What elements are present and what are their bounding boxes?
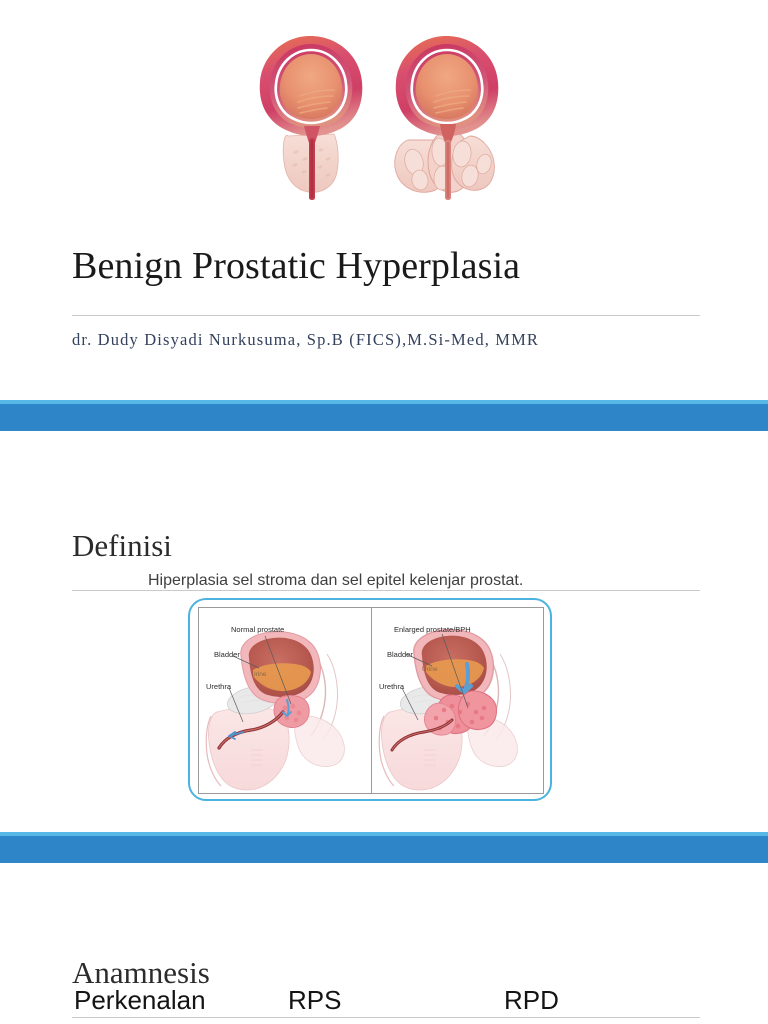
definisi-heading: Definisi [72, 527, 700, 565]
band-fill [0, 404, 768, 431]
anamnesis-slide: Anamnesis Perkenalan RPS RPD [0, 863, 768, 1024]
diagram-inner-frame: Normal prostate Bladder Urethra Urine [198, 607, 544, 794]
diagram-label-bladder-left: Bladder [214, 650, 240, 659]
band-fill [0, 836, 768, 863]
normal-anatomy-illustration [199, 608, 371, 794]
diagram-label-urethra-left: Urethra [206, 682, 231, 691]
anamnesis-divider [72, 1017, 700, 1018]
normal-prostate-figure [260, 36, 363, 200]
bph-anatomy-illustration [372, 608, 544, 794]
diagram-panel-normal: Normal prostate Bladder Urethra Urine [199, 608, 371, 794]
page-title: Benign Prostatic Hyperplasia [72, 243, 700, 289]
title-divider [72, 315, 700, 316]
diagram-label-enlarged-prostate: Enlarged prostate/BPH [394, 625, 471, 634]
anamnesis-column-rps: RPS [288, 983, 341, 1017]
title-block: Benign Prostatic Hyperplasia dr. Dudy Di… [72, 218, 700, 352]
diagram-panel-bph: Enlarged prostate/BPH Bladder Urethra Ur… [372, 608, 544, 794]
anamnesis-column-perkenalan: Perkenalan [74, 983, 206, 1017]
normal-vs-bph-anatomy-diagram: Normal prostate Bladder Urethra Urine [188, 598, 552, 801]
section-divider-band-2 [0, 832, 768, 863]
diagram-label-urethra-right: Urethra [379, 682, 404, 691]
presenter-subtitle: dr. Dudy Disyadi Nurkusuma, Sp.B (FICS),… [72, 328, 700, 352]
diagram-label-normal-prostate: Normal prostate [231, 625, 284, 634]
section-divider-band-1 [0, 400, 768, 431]
prostate-comparison-illustration [248, 28, 520, 200]
diagram-label-bladder-right: Bladder [387, 650, 413, 659]
anamnesis-column-rpd: RPD [504, 983, 559, 1017]
diagram-label-urine-left: Urine [251, 671, 267, 678]
diagram-label-urine-right: Urine [422, 666, 438, 673]
title-slide: Benign Prostatic Hyperplasia dr. Dudy Di… [0, 0, 768, 400]
definisi-slide: Definisi Hiperplasia sel stroma dan sel … [0, 431, 768, 832]
definisi-body-text: Hiperplasia sel stroma dan sel epitel ke… [148, 569, 688, 593]
enlarged-prostate-figure [395, 36, 499, 200]
